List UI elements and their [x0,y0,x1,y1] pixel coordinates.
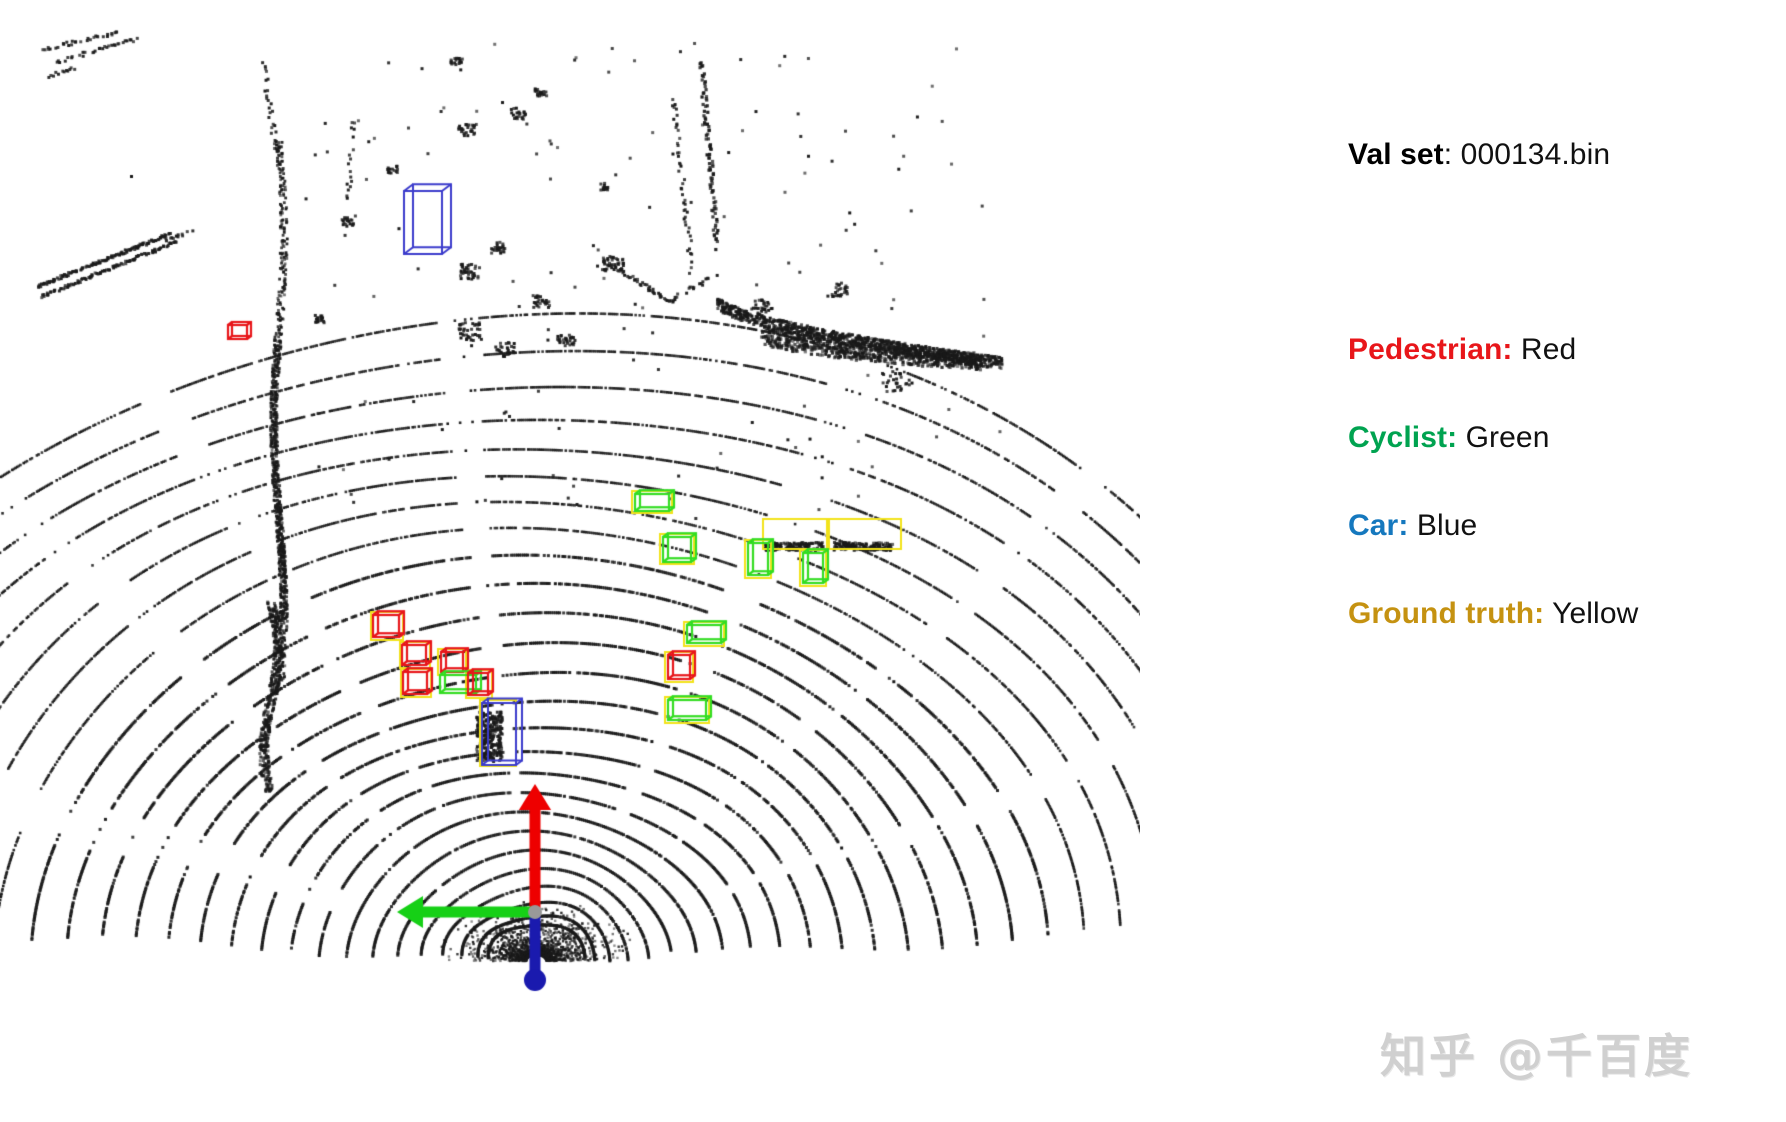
val-set-title: Val set: 000134.bin [1348,138,1610,172]
legend-value-pedestrian: Red [1513,333,1577,366]
lidar-visualization-root: Val set: 000134.bin Pedestrian: Red Cycl… [0,0,1786,1122]
legend-value-car: Blue [1408,509,1477,542]
legend-value-cyclist: Green [1457,421,1549,454]
legend-panel: Val set: 000134.bin Pedestrian: Red Cycl… [1140,0,1786,1122]
point-cloud-canvas[interactable] [0,0,1140,1122]
val-set-filename: 000134.bin [1461,138,1610,171]
val-set-separator: : [1444,138,1461,171]
legend-key-ground-truth: Ground truth: [1348,597,1544,630]
legend-key-pedestrian: Pedestrian: [1348,333,1513,366]
legend-item-cyclist: Cyclist: Green [1348,421,1550,455]
point-cloud-viewport[interactable] [0,0,1140,1122]
legend-value-ground-truth: Yellow [1544,597,1638,630]
legend-key-cyclist: Cyclist: [1348,421,1457,454]
legend-key-car: Car: [1348,509,1408,542]
legend-item-car: Car: Blue [1348,509,1477,543]
legend-item-ground-truth: Ground truth: Yellow [1348,597,1638,631]
zhihu-watermark: 知乎 @千百度 [1380,1020,1693,1086]
legend-item-pedestrian: Pedestrian: Red [1348,333,1576,367]
val-set-label: Val set [1348,138,1444,171]
